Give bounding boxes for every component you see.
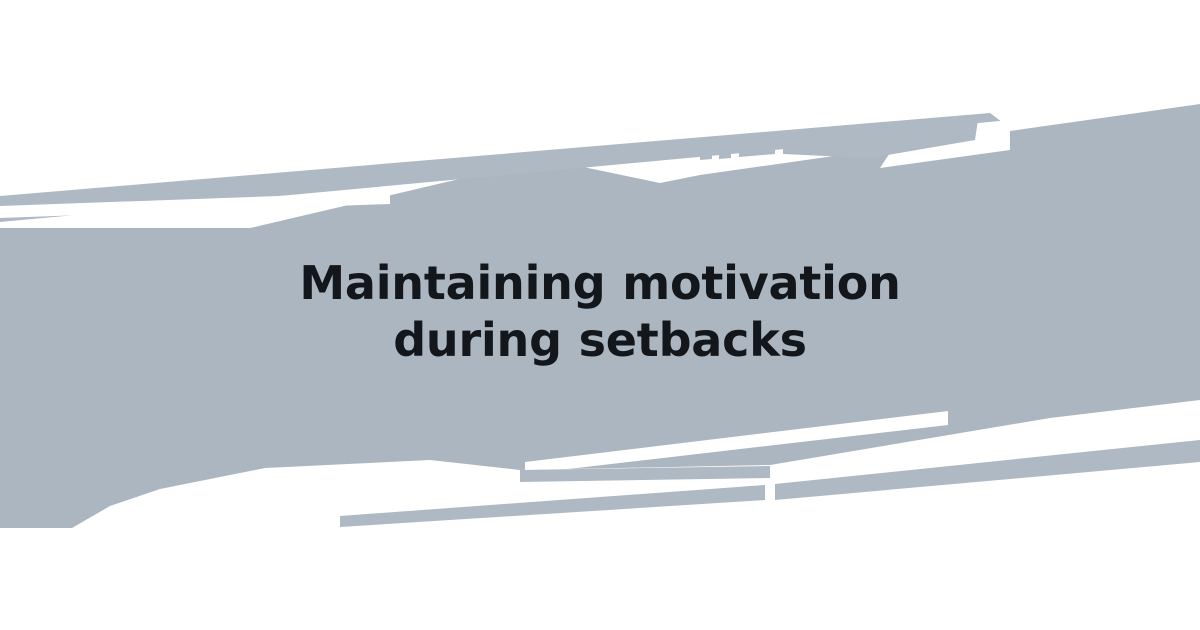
top-dash-small	[700, 141, 712, 160]
top-dash-small-2	[719, 140, 731, 159]
banner-card: Maintaining motivation during setbacks	[0, 0, 1200, 630]
top-dash-medium	[739, 136, 775, 157]
banner-background-art	[0, 0, 1200, 630]
